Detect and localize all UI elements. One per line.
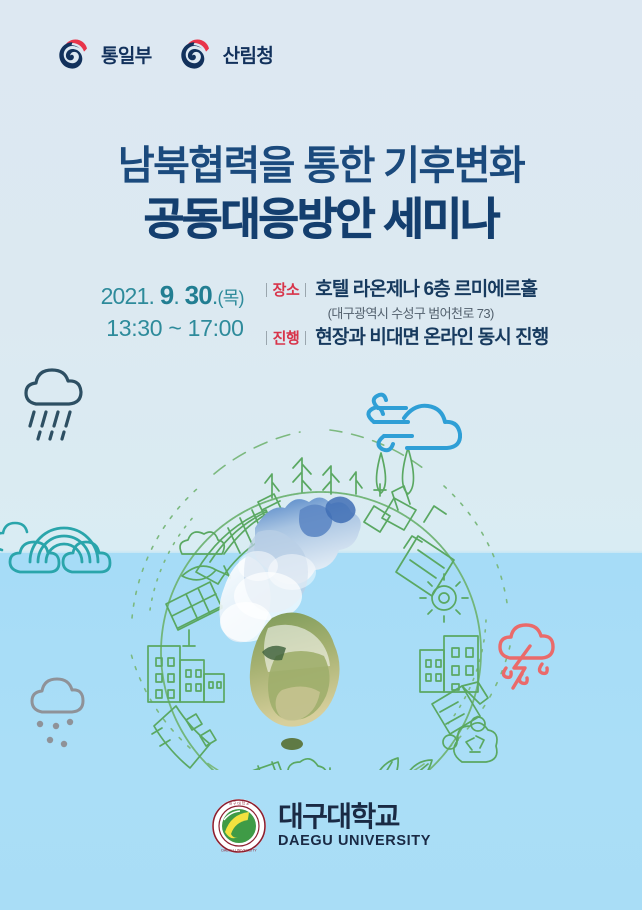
event-time: 13:30 ~ 17:00	[94, 312, 244, 345]
ministry-of-unification-logo: 통일부	[52, 34, 152, 74]
seminar-poster: 통일부 산림청 남북협력을 통한 기후변화 공동대응방안 세미나 2021. 9…	[0, 0, 642, 910]
ring-solar-farm	[226, 762, 292, 770]
title-line-2: 공동대응방안 세미나	[0, 194, 642, 246]
title-line-1: 남북협력을 통한 기후변화	[0, 143, 642, 190]
ring-factory	[152, 706, 216, 768]
ring-gear	[420, 574, 468, 622]
weather-icon-rainbow	[10, 528, 110, 572]
ring-city-left	[148, 646, 224, 702]
climate-illustration	[0, 360, 642, 770]
government-logo-row: 통일부 산림청	[52, 34, 273, 74]
ministry-of-unification-label: 통일부	[101, 41, 152, 68]
daegu-university-seal-icon: 대 구 대 학 교 DAEGU UNIVERSITY	[211, 798, 267, 854]
format-value: 현장과 비대면 온라인 동시 진행	[315, 326, 548, 350]
poster-title: 남북협력을 통한 기후변화 공동대응방안 세미나	[0, 143, 642, 246]
event-details: 장소 호텔 라온제나 6층 르미에르홀 (대구광역시 수성구 범어천로 73) …	[262, 278, 549, 350]
venue-line: 장소 호텔 라온제나 6층 르미에르홀	[266, 278, 549, 302]
venue-address: (대구광역시 수성구 범어천로 73)	[328, 303, 549, 322]
venue-label: 장소	[266, 282, 307, 301]
svg-text:대 구 대 학 교: 대 구 대 학 교	[229, 800, 250, 805]
ring-solar-panels	[166, 582, 222, 646]
ring-tree-badge	[284, 759, 327, 770]
event-weekday: (목)	[218, 288, 244, 308]
weather-icon-thunderstorm	[500, 625, 553, 688]
korea-forest-service-logo: 산림청	[174, 34, 274, 74]
university-footer: 대 구 대 학 교 DAEGU UNIVERSITY 대구대학교 DAEGU U…	[0, 798, 642, 854]
south-korea-region	[250, 612, 340, 750]
university-name-english: DAEGU UNIVERSITY	[278, 834, 431, 849]
taegeuk-emblem-icon	[174, 34, 214, 74]
weather-icon-rain	[26, 370, 81, 439]
event-schedule: 2021. 9. 30.(목) 13:30 ~ 17:00	[94, 278, 262, 345]
weather-icon-wind	[368, 395, 460, 451]
taegeuk-emblem-icon	[52, 34, 92, 74]
ring-industry	[396, 506, 468, 622]
event-date: 2021. 9. 30.(목)	[94, 279, 244, 312]
format-line: 진행 현장과 비대면 온라인 동시 진행	[266, 326, 549, 350]
korea-forest-service-label: 산림청	[223, 41, 274, 68]
event-year: 2021.	[101, 283, 155, 309]
event-date-dot: .	[173, 283, 179, 309]
jeju-island	[281, 738, 303, 750]
ring-sun	[300, 768, 360, 770]
illustration-canvas	[0, 360, 642, 770]
ring-trees	[265, 448, 414, 498]
event-month: 9	[160, 280, 174, 310]
university-name-korean: 대구대학교	[278, 803, 431, 831]
svg-text:DAEGU UNIVERSITY: DAEGU UNIVERSITY	[221, 849, 257, 853]
eco-city-ring	[148, 448, 497, 770]
event-day: 30	[185, 280, 212, 310]
venue-value: 호텔 라온제나 6층 르미에르홀	[315, 278, 537, 302]
university-name-block: 대구대학교 DAEGU UNIVERSITY	[278, 803, 431, 849]
weather-icon-snow	[32, 679, 83, 747]
format-label: 진행	[266, 330, 307, 349]
event-info-row: 2021. 9. 30.(목) 13:30 ~ 17:00 장소 호텔 라온제나…	[0, 278, 642, 350]
ring-recycle-badge	[454, 723, 497, 762]
